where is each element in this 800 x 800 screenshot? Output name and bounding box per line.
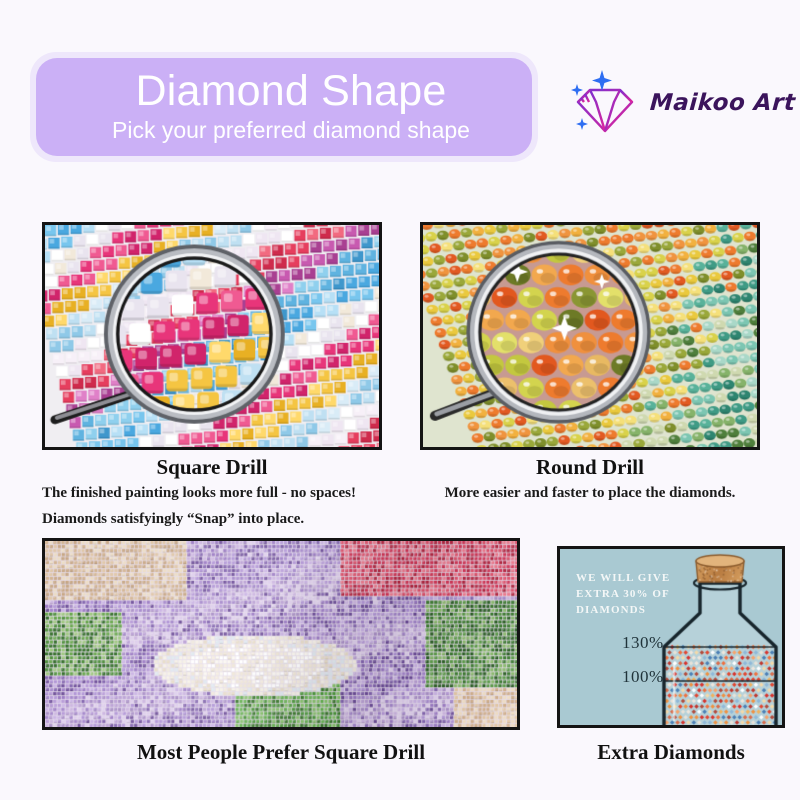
header: Diamond Shape Pick your preferred diamon… bbox=[0, 0, 800, 180]
brand-logo: Maikoo Art bbox=[568, 66, 794, 140]
extra-diamonds-heading: Extra Diamonds bbox=[557, 740, 785, 765]
brand-name: Maikoo Art bbox=[649, 90, 796, 116]
title-banner-inner: Diamond Shape Pick your preferred diamon… bbox=[36, 58, 532, 156]
round-drill-heading: Round Drill bbox=[420, 455, 760, 480]
square-drill-line-2: Diamonds satisfyingly “Snap” into place. bbox=[42, 511, 304, 528]
diamond-bottle-icon bbox=[656, 553, 785, 728]
page-subtitle: Pick your preferred diamond shape bbox=[112, 117, 470, 145]
finished-painting-image bbox=[42, 538, 520, 730]
diamond-sparkle-icon bbox=[568, 68, 642, 138]
page-title: Diamond Shape bbox=[136, 70, 447, 114]
square-drill-heading: Square Drill bbox=[42, 455, 382, 480]
title-banner: Diamond Shape Pick your preferred diamon… bbox=[30, 52, 538, 162]
square-drill-image bbox=[42, 222, 382, 450]
extra-diamonds-image: WE WILL GIVE EXTRA 30% OF DIAMONDS 130% … bbox=[557, 546, 785, 728]
preference-heading: Most People Prefer Square Drill bbox=[42, 740, 520, 765]
square-drill-line-1: The finished painting looks more full - … bbox=[42, 485, 356, 502]
round-drill-image bbox=[420, 222, 760, 450]
round-drill-line-1: More easier and faster to place the diam… bbox=[420, 485, 760, 502]
